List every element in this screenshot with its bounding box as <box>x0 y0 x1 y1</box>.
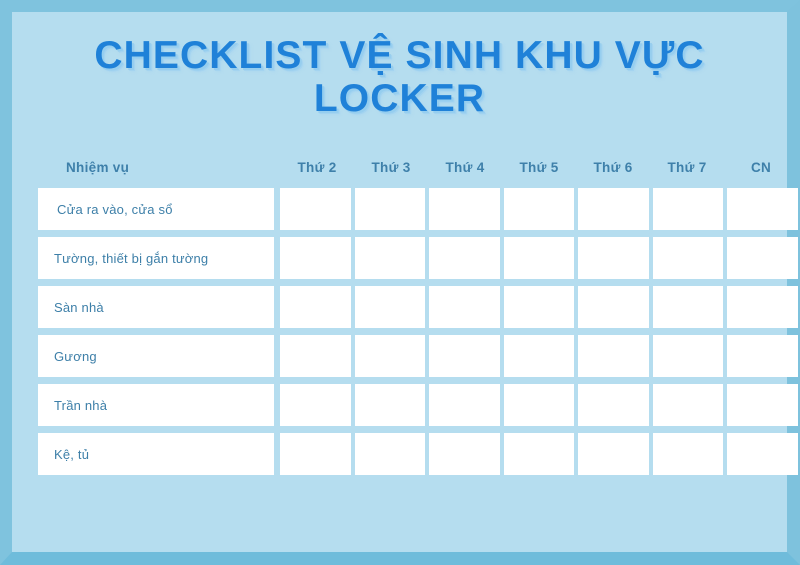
check-cell-thu[interactable] <box>504 335 575 377</box>
check-cell-sun[interactable] <box>727 188 798 230</box>
table-row: Tường, thiết bị gắn tường <box>38 237 798 279</box>
column-header-sun: CN <box>724 146 798 188</box>
check-cell-tue[interactable] <box>355 286 426 328</box>
check-cell-sun[interactable] <box>727 335 798 377</box>
column-header-mon: Thứ 2 <box>280 146 354 188</box>
check-cell-wed[interactable] <box>429 286 500 328</box>
task-label: Trần nhà <box>38 384 274 426</box>
check-cell-mon[interactable] <box>280 188 351 230</box>
check-cell-thu[interactable] <box>504 237 575 279</box>
check-cell-sat[interactable] <box>653 433 724 475</box>
check-cell-mon[interactable] <box>280 286 351 328</box>
check-cell-fri[interactable] <box>578 286 649 328</box>
checklist-table: Nhiệm vụ Thứ 2 Thứ 3 Thứ 4 Thứ 5 Thứ 6 T… <box>38 146 798 482</box>
check-cell-fri[interactable] <box>578 335 649 377</box>
column-header-tue: Thứ 3 <box>354 146 428 188</box>
check-cell-mon[interactable] <box>280 433 351 475</box>
check-cell-thu[interactable] <box>504 384 575 426</box>
check-cell-fri[interactable] <box>578 188 649 230</box>
check-cell-tue[interactable] <box>355 237 426 279</box>
check-cell-tue[interactable] <box>355 188 426 230</box>
task-label: Cửa ra vào, cửa sổ <box>38 188 274 230</box>
check-cell-tue[interactable] <box>355 335 426 377</box>
check-cell-tue[interactable] <box>355 433 426 475</box>
check-cell-tue[interactable] <box>355 384 426 426</box>
column-header-sat: Thứ 7 <box>650 146 724 188</box>
column-header-wed: Thứ 4 <box>428 146 502 188</box>
check-cell-wed[interactable] <box>429 433 500 475</box>
task-label: Gương <box>38 335 274 377</box>
check-cell-sat[interactable] <box>653 237 724 279</box>
table-row: Cửa ra vào, cửa sổ <box>38 188 798 230</box>
check-cell-wed[interactable] <box>429 384 500 426</box>
check-cell-thu[interactable] <box>504 188 575 230</box>
check-cell-thu[interactable] <box>504 286 575 328</box>
check-cell-mon[interactable] <box>280 335 351 377</box>
check-cell-sat[interactable] <box>653 286 724 328</box>
task-label: Sàn nhà <box>38 286 274 328</box>
poster-frame: CHECKLIST VỆ SINH KHU VỰC LOCKER Nhiệm v… <box>0 0 800 565</box>
title-block: CHECKLIST VỆ SINH KHU VỰC LOCKER <box>12 34 787 120</box>
column-header-task: Nhiệm vụ <box>38 146 274 188</box>
check-cell-fri[interactable] <box>578 237 649 279</box>
column-header-fri: Thứ 6 <box>576 146 650 188</box>
check-cell-mon[interactable] <box>280 384 351 426</box>
check-cell-mon[interactable] <box>280 237 351 279</box>
check-cell-wed[interactable] <box>429 188 500 230</box>
check-cell-sun[interactable] <box>727 286 798 328</box>
check-cell-sun[interactable] <box>727 384 798 426</box>
check-cell-sat[interactable] <box>653 188 724 230</box>
column-header-thu: Thứ 5 <box>502 146 576 188</box>
check-cell-sat[interactable] <box>653 335 724 377</box>
task-label: Tường, thiết bị gắn tường <box>38 237 274 279</box>
table-row: Trần nhà <box>38 384 798 426</box>
task-label: Kệ, tủ <box>38 433 274 475</box>
poster-panel: CHECKLIST VỆ SINH KHU VỰC LOCKER Nhiệm v… <box>12 12 787 552</box>
check-cell-sun[interactable] <box>727 237 798 279</box>
check-cell-sat[interactable] <box>653 384 724 426</box>
check-cell-wed[interactable] <box>429 237 500 279</box>
page-title: CHECKLIST VỆ SINH KHU VỰC LOCKER <box>52 34 747 120</box>
check-cell-wed[interactable] <box>429 335 500 377</box>
table-row: Kệ, tủ <box>38 433 798 475</box>
check-cell-sun[interactable] <box>727 433 798 475</box>
check-cell-fri[interactable] <box>578 384 649 426</box>
check-cell-fri[interactable] <box>578 433 649 475</box>
table-row: Gương <box>38 335 798 377</box>
table-header-row: Nhiệm vụ Thứ 2 Thứ 3 Thứ 4 Thứ 5 Thứ 6 T… <box>38 146 798 188</box>
table-row: Sàn nhà <box>38 286 798 328</box>
check-cell-thu[interactable] <box>504 433 575 475</box>
